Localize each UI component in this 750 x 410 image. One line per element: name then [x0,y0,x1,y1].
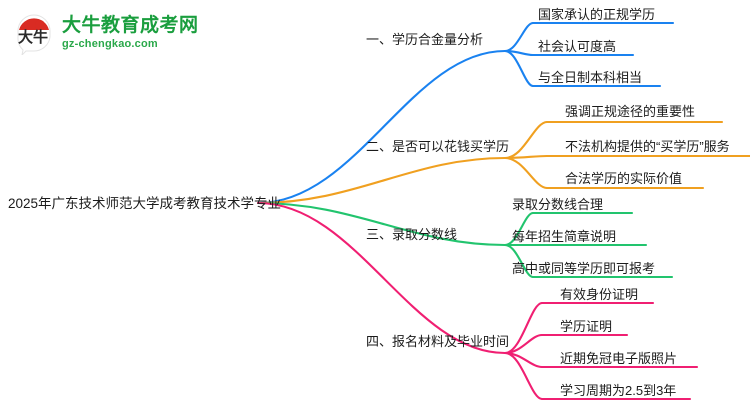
branch-4-leaf-1[interactable]: 有效身份证明 [560,288,638,301]
branch-3-leaf-1[interactable]: 录取分数线合理 [512,198,603,211]
branch-1-label[interactable]: 一、学历合金量分析 [366,33,483,46]
branch-1-leaf-3[interactable]: 与全日制本科相当 [538,71,642,84]
connector-line [505,158,547,188]
branch-4-label[interactable]: 四、报名材料及毕业时间 [366,335,509,348]
root-topic[interactable]: 2025年广东技术师范大学成考教育技术学专业 [8,197,281,211]
branch-2-leaf-2[interactable]: 不法机构提供的“买学历”服务 [565,140,730,153]
branch-3-leaf-2[interactable]: 每年招生简章说明 [512,230,616,243]
branch-2-label[interactable]: 二、是否可以花钱买学历 [366,140,509,153]
mindmap-canvas: 大牛 大牛教育成考网 gz-chengkao.com 2025年广东技术师范大学… [0,0,750,410]
branch-2-leaf-3[interactable]: 合法学历的实际价值 [565,172,682,185]
connector-line [505,122,547,158]
branch-4-leaf-2[interactable]: 学历证明 [560,320,612,333]
connector-line [505,51,533,86]
branch-4-leaf-3[interactable]: 近期免冠电子版照片 [560,352,677,365]
branch-4-leaf-4[interactable]: 学习周期为2.5到3年 [560,384,676,397]
connector-line [258,203,505,353]
connector-line [505,23,533,51]
branch-3-leaf-3[interactable]: 高中或同等学历即可报考 [512,262,655,275]
branch-1-leaf-1[interactable]: 国家承认的正规学历 [538,8,655,21]
branch-1-leaf-2[interactable]: 社会认可度高 [538,40,616,53]
branch-2-leaf-1[interactable]: 强调正规途径的重要性 [565,105,695,118]
branch-3-label[interactable]: 三、录取分数线 [366,228,457,241]
